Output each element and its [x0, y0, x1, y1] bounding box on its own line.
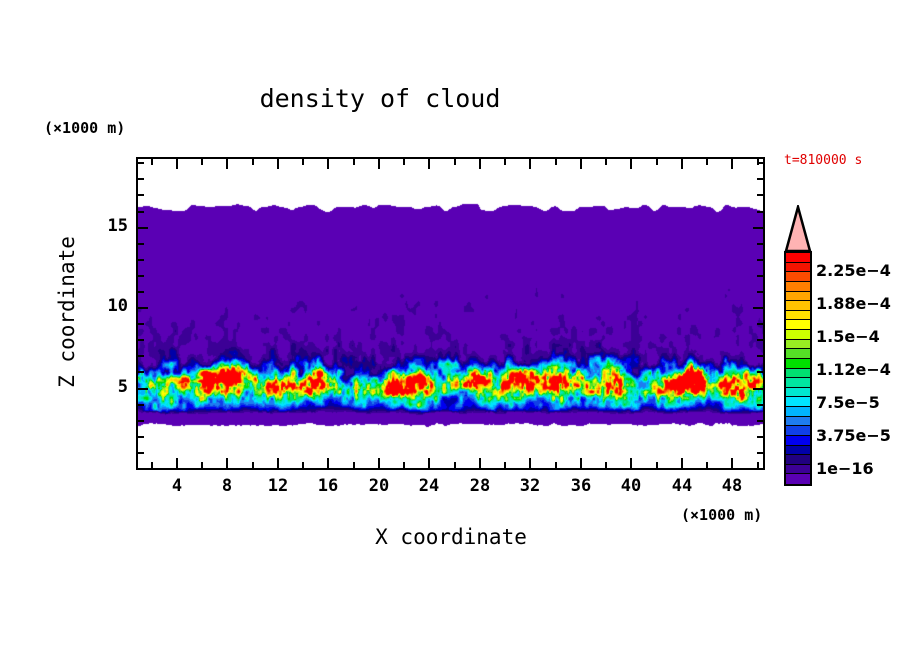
axis-tick [656, 462, 658, 468]
axis-tick-label: 32 [518, 476, 542, 496]
axis-tick [138, 291, 144, 293]
axis-tick [226, 159, 228, 169]
axis-tick [757, 194, 763, 196]
axis-tick-label: 10 [94, 296, 128, 316]
axis-tick [327, 159, 329, 169]
colorbar-band [786, 436, 810, 446]
axis-tick [479, 458, 481, 468]
axis-tick [757, 371, 763, 373]
colorbar-band [786, 407, 810, 417]
axis-tick-label: 4 [165, 476, 189, 496]
axis-tick [454, 462, 456, 468]
axis-tick-label: 36 [569, 476, 593, 496]
axis-tick [151, 462, 153, 468]
colorbar-band [786, 359, 810, 369]
y-axis-title: Z coordinate [55, 212, 79, 412]
axis-tick [138, 404, 144, 406]
axis-tick [504, 462, 506, 468]
axis-tick-label: 44 [670, 476, 694, 496]
axis-tick [757, 243, 763, 245]
colorbar-band [786, 311, 810, 321]
axis-tick [138, 323, 144, 325]
axis-tick-label: 28 [468, 476, 492, 496]
axis-tick [138, 259, 144, 261]
axis-tick [681, 159, 683, 169]
axis-tick [302, 462, 304, 468]
axis-tick [201, 462, 203, 468]
axis-tick [378, 458, 380, 468]
y-axis-units-label: (×1000 m) [44, 119, 125, 137]
colorbar-band [786, 474, 810, 484]
colorbar-tick-label: 1.12e−4 [816, 360, 891, 379]
colorbar-band [786, 272, 810, 282]
colorbar-tick-label: 1.88e−4 [816, 294, 891, 313]
axis-tick [138, 194, 144, 196]
axis-tick [681, 458, 683, 468]
axis-tick [277, 159, 279, 169]
axis-tick [757, 462, 759, 468]
axis-tick [403, 159, 405, 165]
colorbar-band [786, 388, 810, 398]
axis-tick [378, 159, 380, 169]
axis-tick [580, 458, 582, 468]
axis-tick [201, 159, 203, 165]
axis-tick-label: 5 [94, 377, 128, 397]
axis-tick [138, 162, 144, 164]
axis-tick [504, 159, 506, 165]
axis-tick [757, 178, 763, 180]
colorbar-band [786, 349, 810, 359]
axis-tick [138, 388, 148, 390]
contour-plot-area [136, 157, 765, 470]
page-title: density of cloud [0, 84, 760, 113]
colorbar-tick-label: 1.5e−4 [816, 327, 880, 346]
axis-tick [138, 307, 148, 309]
axis-tick [479, 159, 481, 169]
axis-tick [731, 458, 733, 468]
colorbar-band [786, 426, 810, 436]
colorbar-band [786, 417, 810, 427]
axis-tick [757, 404, 763, 406]
axis-tick-label: 15 [94, 216, 128, 236]
axis-tick [252, 159, 254, 165]
axis-tick [529, 159, 531, 169]
axis-tick [605, 462, 607, 468]
axis-tick [757, 339, 763, 341]
axis-tick [757, 436, 763, 438]
x-axis-title: X coordinate [136, 525, 766, 549]
axis-tick [176, 159, 178, 169]
colorbar-band [786, 320, 810, 330]
axis-tick [555, 462, 557, 468]
axis-tick-label: 40 [619, 476, 643, 496]
contour-field-canvas [138, 159, 763, 468]
axis-tick [757, 355, 763, 357]
axis-tick [753, 227, 763, 229]
axis-tick [605, 159, 607, 165]
axis-tick [757, 211, 763, 213]
colorbar-band [786, 292, 810, 302]
axis-tick [226, 458, 228, 468]
axis-tick [138, 420, 144, 422]
axis-tick [353, 159, 355, 165]
axis-tick [656, 159, 658, 165]
axis-tick [353, 462, 355, 468]
colorbar-overflow-arrow [784, 205, 812, 253]
axis-tick [757, 259, 763, 261]
axis-tick [138, 211, 144, 213]
axis-tick [138, 275, 144, 277]
colorbar-band [786, 378, 810, 388]
colorbar-band [786, 397, 810, 407]
axis-tick [138, 436, 144, 438]
colorbar-band [786, 465, 810, 475]
axis-tick [580, 159, 582, 169]
axis-tick [138, 227, 148, 229]
axis-tick-label: 12 [266, 476, 290, 496]
axis-tick [753, 307, 763, 309]
axis-tick [428, 159, 430, 169]
axis-tick [757, 162, 763, 164]
axis-tick [529, 458, 531, 468]
colorbar-tick-label: 1e−16 [816, 459, 874, 478]
colorbar-band [786, 253, 810, 263]
colorbar-tick-label: 2.25e−4 [816, 261, 891, 280]
axis-tick [302, 159, 304, 165]
x-axis-units-label: (×1000 m) [681, 506, 762, 524]
colorbar-tick-label: 7.5e−5 [816, 393, 880, 412]
axis-tick [757, 323, 763, 325]
colorbar-band [786, 369, 810, 379]
axis-tick [403, 462, 405, 468]
axis-tick [277, 458, 279, 468]
axis-tick [753, 388, 763, 390]
colorbar-band [786, 330, 810, 340]
axis-tick [138, 452, 144, 454]
colorbar-band [786, 263, 810, 273]
axis-tick [176, 458, 178, 468]
axis-tick [327, 458, 329, 468]
axis-tick [630, 159, 632, 169]
axis-tick [138, 355, 144, 357]
axis-tick [454, 159, 456, 165]
axis-tick [138, 371, 144, 373]
axis-tick [706, 462, 708, 468]
time-annotation: t=810000 s [784, 153, 862, 168]
axis-tick-label: 48 [720, 476, 744, 496]
axis-tick [428, 458, 430, 468]
axis-tick [630, 458, 632, 468]
axis-tick-label: 20 [367, 476, 391, 496]
axis-tick [555, 159, 557, 165]
colorbar-band [786, 340, 810, 350]
axis-tick-label: 24 [417, 476, 441, 496]
axis-tick [252, 462, 254, 468]
axis-tick [151, 159, 153, 165]
axis-tick [757, 275, 763, 277]
figure-root: density of cloud (×1000 m) (×1000 m) Z c… [0, 0, 904, 654]
axis-tick [138, 339, 144, 341]
axis-tick [757, 420, 763, 422]
axis-tick [138, 178, 144, 180]
axis-tick-label: 16 [316, 476, 340, 496]
colorbar-tick-label: 3.75e−5 [816, 426, 891, 445]
colorbar-band [786, 282, 810, 292]
colorbar-band [786, 301, 810, 311]
axis-tick [706, 159, 708, 165]
axis-tick-label: 8 [215, 476, 239, 496]
axis-tick [757, 452, 763, 454]
axis-tick [757, 291, 763, 293]
axis-tick [731, 159, 733, 169]
colorbar-band [786, 455, 810, 465]
colorbar-band [786, 446, 810, 456]
axis-tick [138, 243, 144, 245]
colorbar [784, 251, 812, 486]
